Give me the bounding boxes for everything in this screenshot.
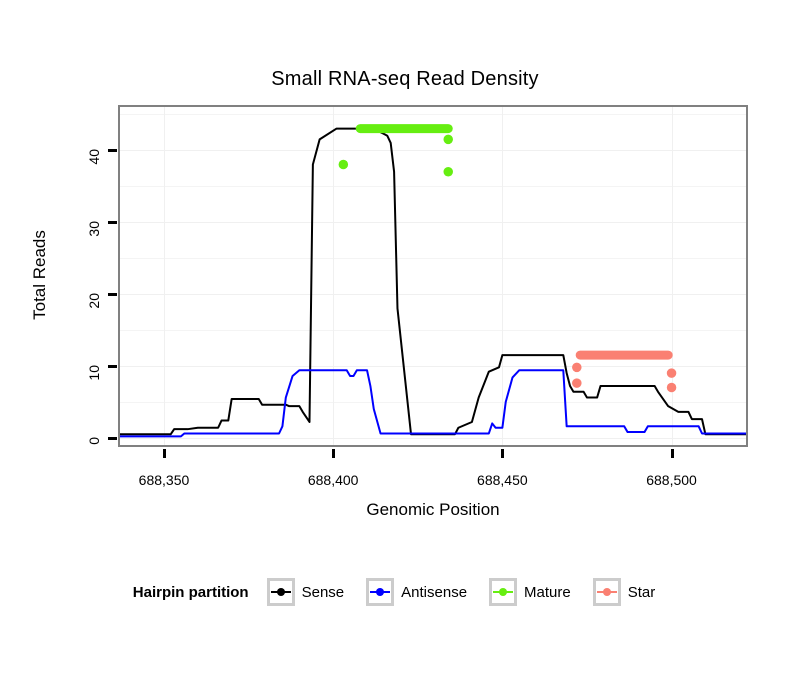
legend-label: Antisense [401,584,467,601]
plot-area [120,107,746,445]
annotation-point-star [572,378,582,388]
annotation-point-mature [443,167,453,177]
x-tick-label: 688,400 [273,472,393,488]
legend-item-mature[interactable]: Mature [489,578,587,606]
chart-title: Small RNA-seq Read Density [0,68,810,91]
y-tick-mark [108,293,117,296]
legend-label: Mature [524,584,571,601]
x-tick-label: 688,450 [442,472,562,488]
x-tick-label: 688,500 [612,472,732,488]
x-tick-mark [671,449,674,458]
chart-legend: Hairpin partition SenseAntisenseMatureSt… [0,578,810,606]
annotation-point-mature [443,135,453,145]
legend-item-sense[interactable]: Sense [267,578,361,606]
series-line-sense [120,129,746,435]
legend-key-antisense-icon [366,578,394,606]
x-tick-mark [332,449,335,458]
legend-key-star-icon [593,578,621,606]
plot-panel [118,105,748,447]
legend-key-mature-icon [489,578,517,606]
legend-item-star[interactable]: Star [593,578,672,606]
y-tick-mark [108,221,117,224]
y-tick-mark [108,365,117,368]
chart-figure: Small RNA-seq Read Density 688,350688,40… [0,0,810,690]
x-axis-title: Genomic Position [118,500,748,520]
annotation-point-star [667,383,677,393]
legend-item-antisense[interactable]: Antisense [366,578,483,606]
series-layer [120,107,746,445]
legend-key-dot [499,588,507,596]
legend-title: Hairpin partition [133,584,249,601]
legend-key-dot [376,588,384,596]
legend-key-sense-icon [267,578,295,606]
annotation-point-mature [339,160,349,170]
legend-key-dot [277,588,285,596]
legend-label: Sense [302,584,345,601]
y-tick-label: 40 [86,149,102,249]
legend-label: Star [628,584,656,601]
y-tick-mark [108,149,117,152]
series-line-antisense [120,370,746,436]
annotation-point-star [572,363,582,373]
x-tick-label: 688,350 [104,472,224,488]
y-axis-title: Total Reads [30,180,50,370]
annotation-point-star [667,368,677,378]
y-tick-mark [108,437,117,440]
legend-key-dot [603,588,611,596]
x-tick-mark [163,449,166,458]
x-tick-mark [501,449,504,458]
